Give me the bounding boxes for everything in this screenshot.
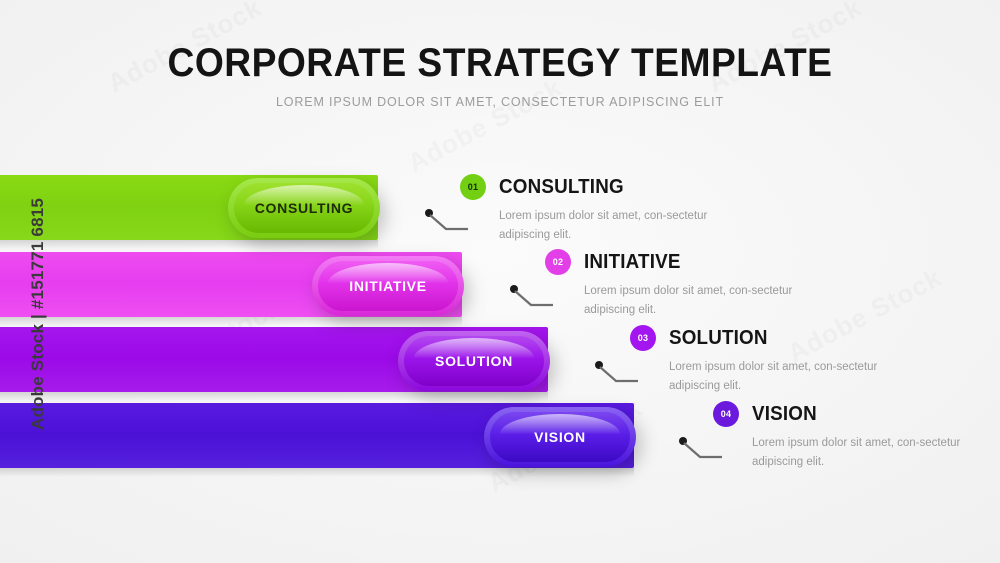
info-title: CONSULTING — [499, 176, 624, 199]
info-header: 01 CONSULTING — [460, 174, 760, 200]
info-block-consulting: 01 CONSULTING Lorem ipsum dolor sit amet… — [460, 174, 760, 244]
info-header: 02 INITIATIVE — [545, 249, 845, 275]
pill-label: SOLUTION — [435, 353, 513, 369]
step-number-badge: 01 — [460, 174, 486, 200]
pill-label: INITIATIVE — [349, 278, 427, 294]
info-header: 03 SOLUTION — [630, 325, 930, 351]
info-block-initiative: 02 INITIATIVE Lorem ipsum dolor sit amet… — [545, 249, 845, 319]
step-number-badge: 04 — [713, 401, 739, 427]
step-number-badge: 02 — [545, 249, 571, 275]
info-description: Lorem ipsum dolor sit amet, con-sectetur… — [499, 207, 749, 244]
info-header: 04 VISION — [713, 401, 1000, 427]
pill-button-initiative[interactable]: INITIATIVE — [312, 256, 464, 316]
info-description: Lorem ipsum dolor sit amet, con-sectetur… — [752, 434, 1000, 471]
pill-button-vision[interactable]: VISION — [484, 407, 636, 467]
page-subtitle: LOREM IPSUM DOLOR SIT AMET, CONSECTETUR … — [0, 95, 1000, 109]
infographic-canvas: Adobe Stock Adobe Stock Adobe Stock Adob… — [0, 0, 1000, 563]
step-number-badge: 03 — [630, 325, 656, 351]
info-description: Lorem ipsum dolor sit amet, con-sectetur… — [669, 358, 919, 395]
info-block-vision: 04 VISION Lorem ipsum dolor sit amet, co… — [713, 401, 1000, 471]
pill-label: CONSULTING — [255, 200, 354, 216]
pill-button-solution[interactable]: SOLUTION — [398, 331, 550, 391]
info-block-solution: 03 SOLUTION Lorem ipsum dolor sit amet, … — [630, 325, 930, 395]
pill-label: VISION — [534, 429, 586, 445]
page-header: CORPORATE STRATEGY TEMPLATE LOREM IPSUM … — [0, 42, 1000, 109]
info-description: Lorem ipsum dolor sit amet, con-sectetur… — [584, 282, 834, 319]
info-title: VISION — [752, 403, 817, 426]
info-title: INITIATIVE — [584, 251, 681, 274]
pill-button-consulting[interactable]: CONSULTING — [228, 178, 380, 238]
page-title: CORPORATE STRATEGY TEMPLATE — [35, 42, 965, 84]
info-title: SOLUTION — [669, 327, 768, 350]
